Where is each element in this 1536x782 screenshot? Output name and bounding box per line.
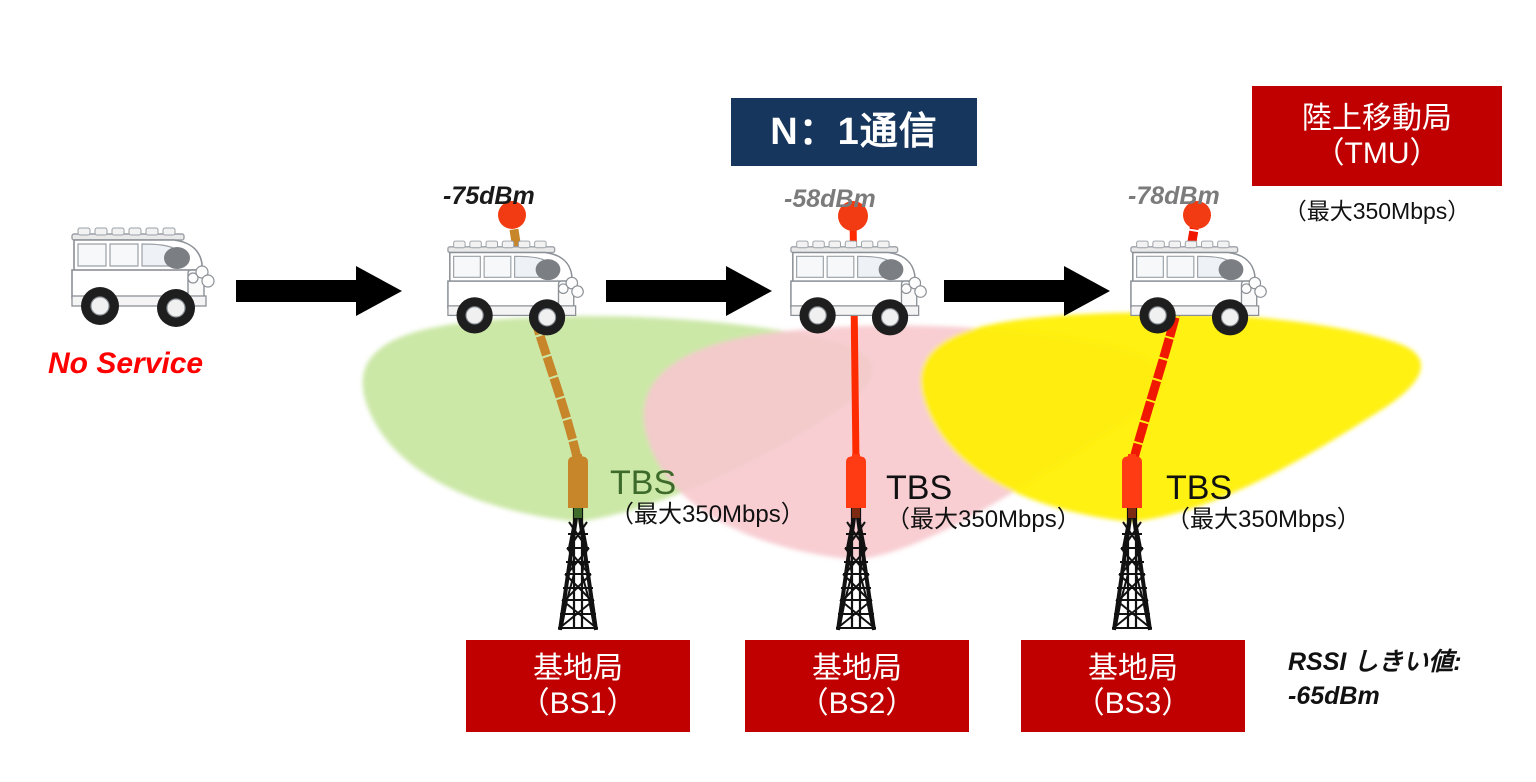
tbs-unit-1 [568,454,588,508]
tbs-rate-1: （最大350Mbps） [610,502,805,528]
bs3-line1: 基地局 [1088,651,1178,686]
tbs-unit-3 [1122,454,1142,508]
base-station-box-1: 基地局 （BS1） [466,640,690,732]
tbs-rate-3: （最大350Mbps） [1166,507,1361,533]
tbs-label-1: TBS （最大350Mbps） [610,465,805,529]
bs1-line2: （BS1） [520,686,637,721]
arrow-1 [236,262,404,320]
tbs-label-3: TBS （最大350Mbps） [1166,470,1361,534]
bs2-line2: （BS2） [799,686,916,721]
bs1-line1: 基地局 [533,651,623,686]
rssi-threshold-note: RSSI しきい値: -65dBm [1288,646,1462,714]
tbs-unit-2 [846,454,866,508]
rssi-reading-1: -75dBm [443,182,535,211]
arrow-3 [944,262,1112,320]
tbs-label-2: TBS （最大350Mbps） [886,470,1081,534]
tower-mast-1 [558,492,598,630]
communication-mode-label: N：1通信 [770,110,938,155]
tbs-name-2: TBS [886,470,1081,507]
rssi-reading-3: -78dBm [1128,182,1220,211]
base-station-box-2: 基地局 （BS2） [745,640,969,732]
tbs-name-3: TBS [1166,470,1361,507]
tbs-name-1: TBS [610,465,805,502]
communication-mode-badge: N：1通信 [731,98,977,166]
rssi-threshold-line2: -65dBm [1288,680,1462,714]
bs3-line2: （BS3） [1075,686,1192,721]
bs2-line1: 基地局 [812,651,902,686]
tower-mast-3 [1112,492,1152,630]
tmu-label-line1: 陸上移動局 [1302,101,1452,136]
tower-mast-2 [836,492,876,630]
no-service-label: No Service [48,347,203,381]
tmu-rate-caption: （最大350Mbps） [1252,192,1502,226]
rssi-threshold-line1: RSSI しきい値: [1288,646,1462,680]
arrow-2 [606,262,774,320]
diagram-canvas: N：1通信 陸上移動局 （TMU） （最大350Mbps） No Service… [0,0,1536,782]
tmu-legend-box: 陸上移動局 （TMU） [1252,86,1502,186]
rssi-reading-2: -58dBm [784,185,876,214]
tbs-rate-2: （最大350Mbps） [886,507,1081,533]
tmu-label-line2: （TMU） [1315,136,1440,171]
base-station-box-3: 基地局 （BS3） [1021,640,1245,732]
